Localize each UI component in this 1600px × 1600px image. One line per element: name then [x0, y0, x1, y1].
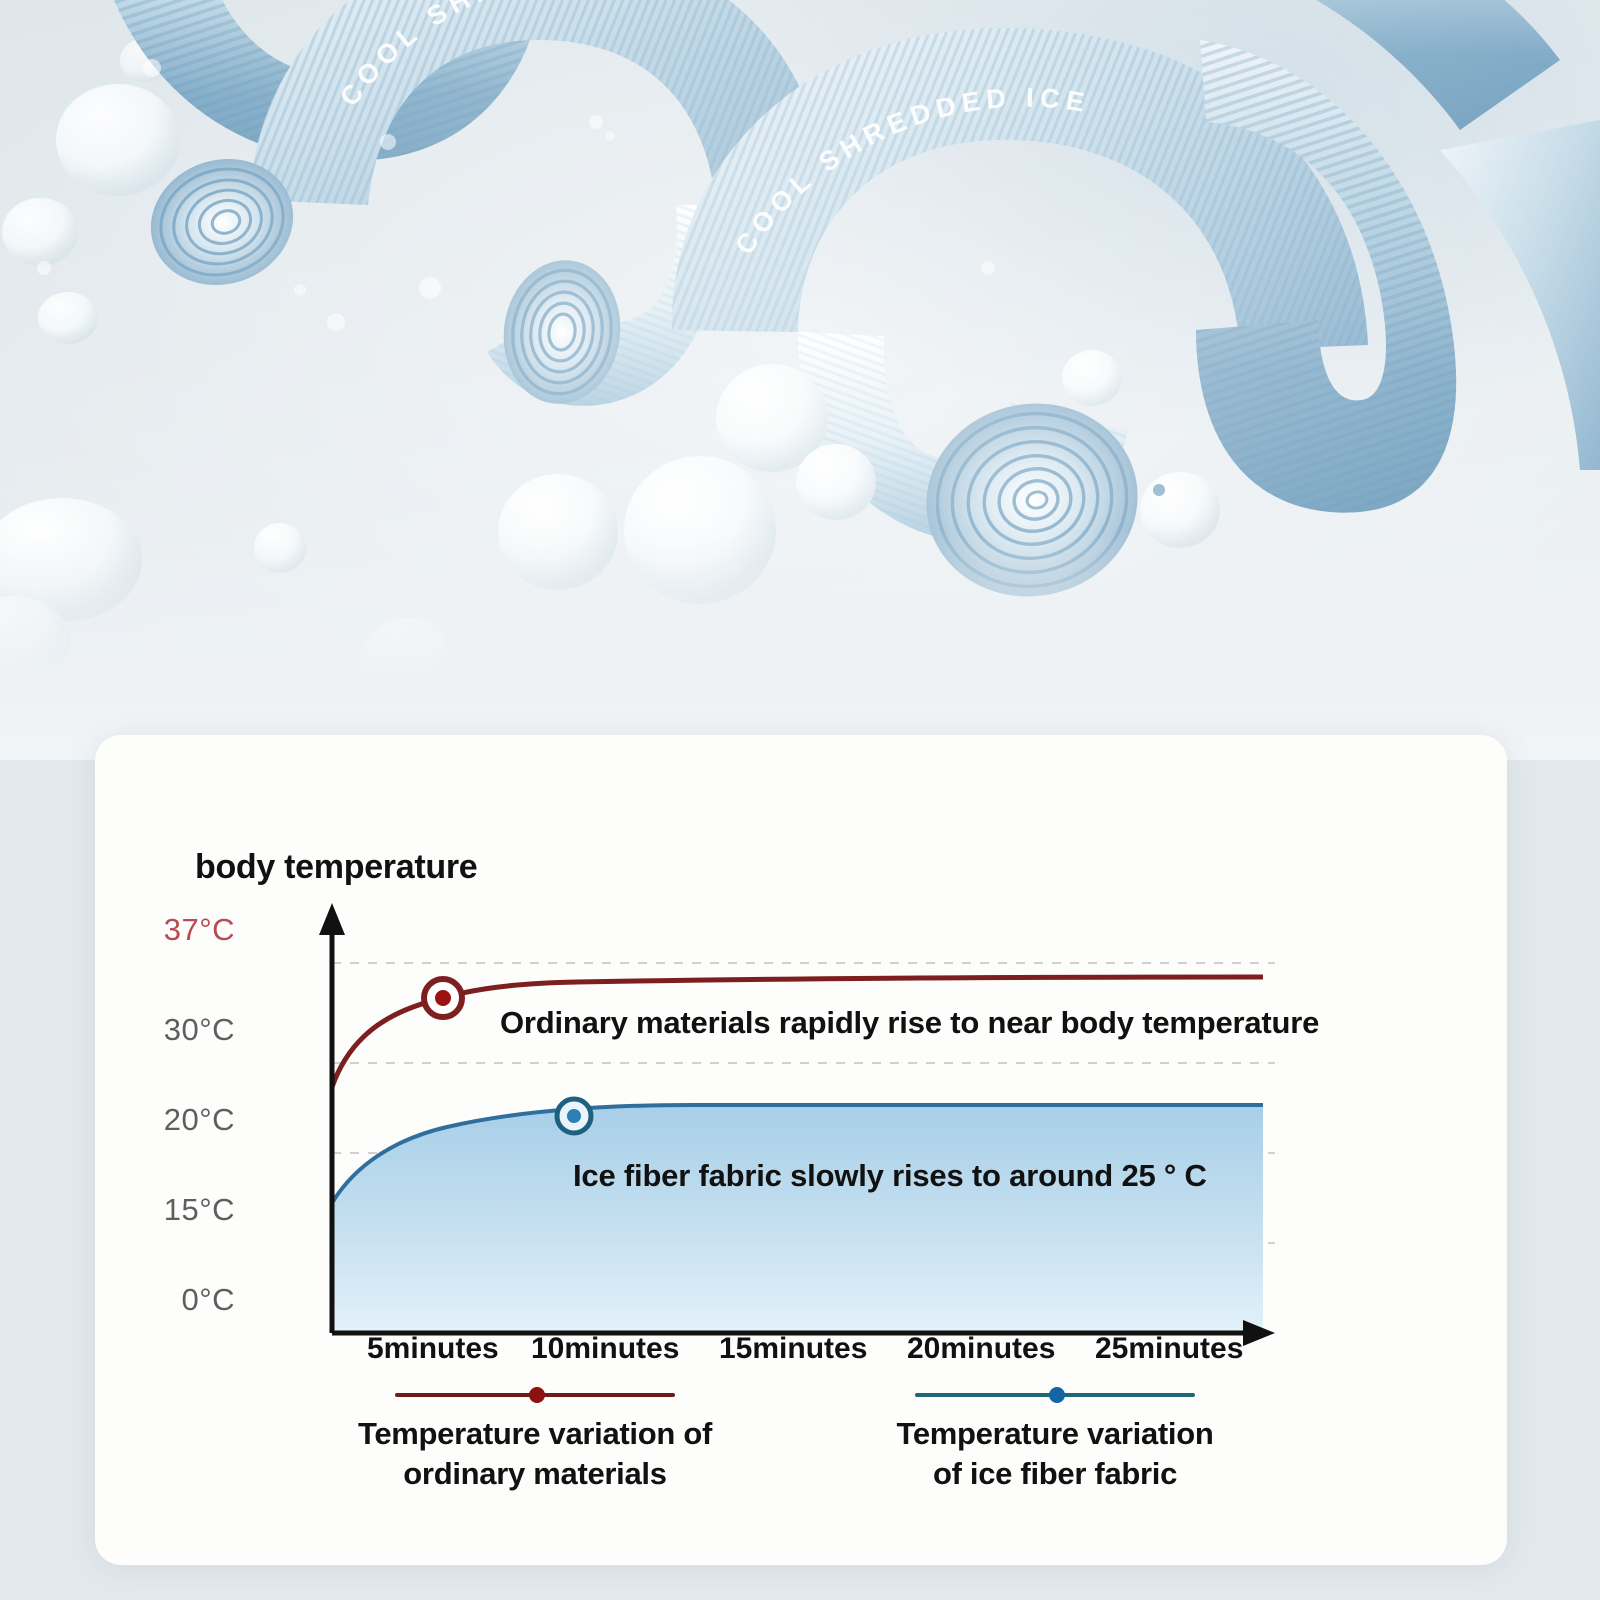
- legend-label-ordinary-line2: ordinary materials: [255, 1454, 815, 1494]
- legend-label-ice-fiber-line1: Temperature variation: [775, 1414, 1335, 1454]
- x-tick-25minutes: 25minutes: [1095, 1332, 1243, 1366]
- legend-label-ice-fiber-line2: of ice fiber fabric: [775, 1454, 1335, 1494]
- x-tick-15minutes: 15minutes: [719, 1332, 867, 1366]
- chart-legend: Temperature variation of ordinary materi…: [95, 1380, 1507, 1550]
- y-axis-arrow: [319, 903, 345, 935]
- x-tick-10minutes: 10minutes: [531, 1332, 679, 1366]
- legend-swatch-ordinary: [395, 1380, 675, 1408]
- marker-ice-fiber: [557, 1099, 591, 1133]
- hero-bottom-fade: [0, 530, 1600, 760]
- legend-item-ice-fiber[interactable]: Temperature variation of ice fiber fabri…: [775, 1380, 1335, 1493]
- page-root: COOL SHREDDED ICE COOL SHREDDED ICE: [0, 0, 1600, 1600]
- x-tick-5minutes: 5minutes: [367, 1332, 499, 1366]
- legend-swatch-ice-fiber: [915, 1380, 1195, 1408]
- annotation-ordinary-materials: Ordinary materials rapidly rise to near …: [500, 1005, 1319, 1041]
- annotation-ice-fiber: Ice fiber fabric slowly rises to around …: [573, 1158, 1207, 1194]
- chart-card: body temperature 37°C 30°C 20°C 15°C 0°C: [95, 735, 1507, 1565]
- x-tick-20minutes: 20minutes: [907, 1332, 1055, 1366]
- legend-item-ordinary[interactable]: Temperature variation of ordinary materi…: [255, 1380, 815, 1493]
- series-area-ice-fiber: [332, 1105, 1263, 1333]
- marker-ordinary: [424, 979, 462, 1017]
- hero-product-image: COOL SHREDDED ICE COOL SHREDDED ICE: [0, 0, 1600, 760]
- temperature-chart: body temperature 37°C 30°C 20°C 15°C 0°C: [95, 735, 1507, 1565]
- legend-label-ordinary-line1: Temperature variation of: [255, 1414, 815, 1454]
